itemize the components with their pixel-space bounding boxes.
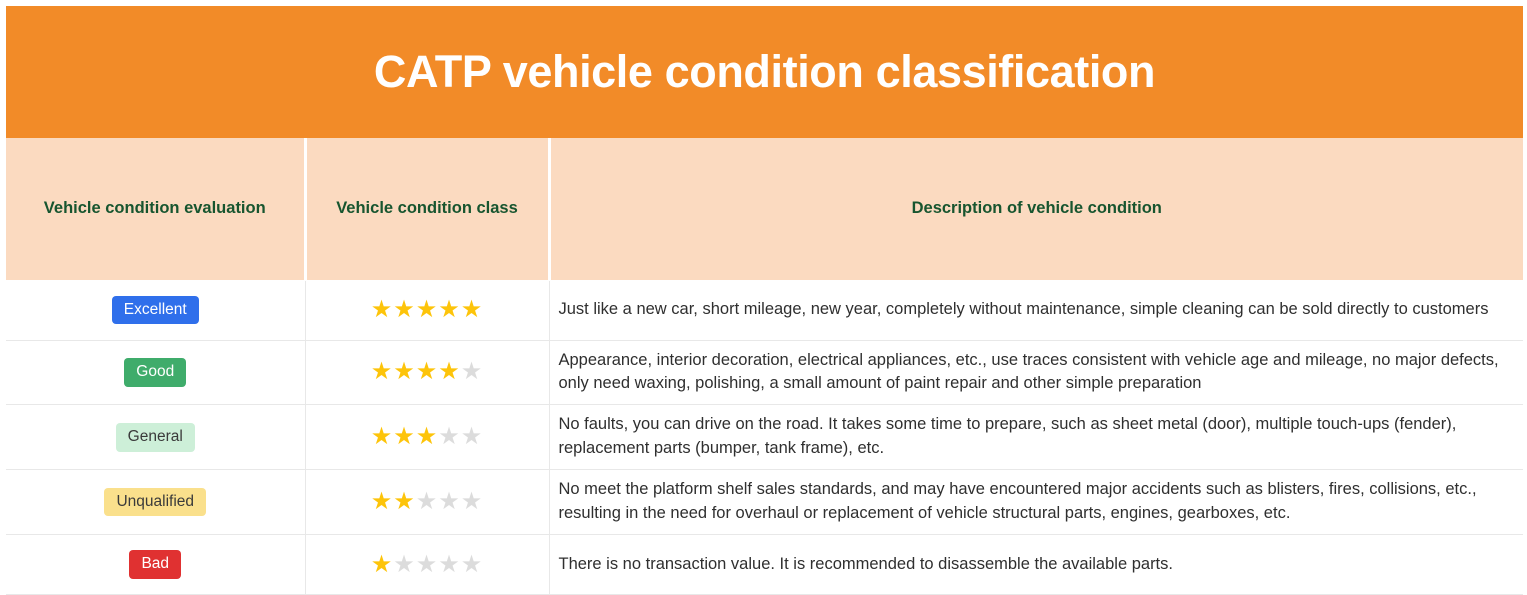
star-empty-icon: ★ [393, 551, 416, 578]
star-filled-icon: ★ [393, 358, 416, 385]
table-row: General★★★★★No faults, you can drive on … [6, 405, 1523, 470]
star-filled-icon: ★ [438, 358, 461, 385]
cell-evaluation: General [6, 405, 305, 470]
star-empty-icon: ★ [461, 358, 484, 385]
table-body: Excellent★★★★★Just like a new car, short… [6, 280, 1523, 595]
star-filled-icon: ★ [416, 423, 439, 450]
status-badge: General [116, 423, 195, 452]
cell-evaluation: Good [6, 340, 305, 405]
table-header: Vehicle condition evaluation Vehicle con… [6, 138, 1523, 280]
star-empty-icon: ★ [438, 551, 461, 578]
table-header-row: Vehicle condition evaluation Vehicle con… [6, 138, 1523, 280]
star-empty-icon: ★ [416, 551, 439, 578]
star-rating: ★★★★★ [371, 490, 484, 514]
cell-class: ★★★★★ [305, 470, 549, 535]
star-filled-icon: ★ [371, 423, 394, 450]
star-empty-icon: ★ [416, 488, 439, 515]
column-header-class: Vehicle condition class [305, 138, 549, 280]
vehicle-condition-table: Vehicle condition evaluation Vehicle con… [6, 138, 1523, 595]
star-rating: ★★★★★ [371, 425, 484, 449]
table-row: Unqualified★★★★★No meet the platform she… [6, 470, 1523, 535]
title-banner: CATP vehicle condition classification [6, 6, 1523, 138]
cell-description: There is no transaction value. It is rec… [549, 535, 1523, 595]
star-empty-icon: ★ [461, 423, 484, 450]
cell-description: No meet the platform shelf sales standar… [549, 470, 1523, 535]
table-row: Good★★★★★Appearance, interior decoration… [6, 340, 1523, 405]
status-badge: Unqualified [104, 488, 206, 517]
cell-description: No faults, you can drive on the road. It… [549, 405, 1523, 470]
cell-class: ★★★★★ [305, 340, 549, 405]
star-filled-icon: ★ [393, 488, 416, 515]
star-filled-icon: ★ [416, 296, 439, 323]
table-row: Excellent★★★★★Just like a new car, short… [6, 280, 1523, 340]
cell-evaluation: Excellent [6, 280, 305, 340]
cell-evaluation: Bad [6, 535, 305, 595]
cell-class: ★★★★★ [305, 535, 549, 595]
star-rating: ★★★★★ [371, 298, 484, 322]
star-filled-icon: ★ [393, 296, 416, 323]
status-badge: Good [124, 358, 186, 387]
status-badge: Bad [129, 550, 181, 579]
star-filled-icon: ★ [371, 358, 394, 385]
star-filled-icon: ★ [416, 358, 439, 385]
star-filled-icon: ★ [371, 551, 394, 578]
star-filled-icon: ★ [371, 488, 394, 515]
star-filled-icon: ★ [438, 296, 461, 323]
star-empty-icon: ★ [461, 551, 484, 578]
star-empty-icon: ★ [461, 488, 484, 515]
star-filled-icon: ★ [393, 423, 416, 450]
star-rating: ★★★★★ [371, 360, 484, 384]
star-empty-icon: ★ [438, 423, 461, 450]
page-title: CATP vehicle condition classification [374, 48, 1155, 95]
column-header-evaluation: Vehicle condition evaluation [6, 138, 305, 280]
star-filled-icon: ★ [461, 296, 484, 323]
cell-class: ★★★★★ [305, 405, 549, 470]
table-row: Bad★★★★★There is no transaction value. I… [6, 535, 1523, 595]
column-header-description: Description of vehicle condition [549, 138, 1523, 280]
cell-description: Just like a new car, short mileage, new … [549, 280, 1523, 340]
cell-evaluation: Unqualified [6, 470, 305, 535]
star-filled-icon: ★ [371, 296, 394, 323]
page-root: CATP vehicle condition classification Ve… [0, 0, 1527, 579]
status-badge: Excellent [112, 296, 199, 325]
cell-class: ★★★★★ [305, 280, 549, 340]
star-empty-icon: ★ [438, 488, 461, 515]
star-rating: ★★★★★ [371, 553, 484, 577]
cell-description: Appearance, interior decoration, electri… [549, 340, 1523, 405]
